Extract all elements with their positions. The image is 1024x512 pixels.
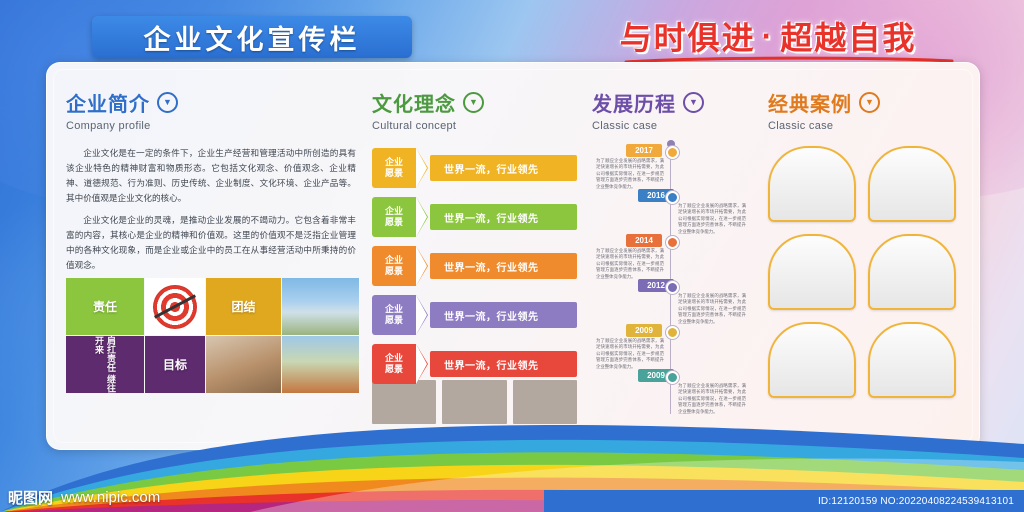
vision-arrow-tab: 企业愿景 [372, 295, 416, 335]
case-photo-frame-list [768, 146, 958, 408]
vision-arrow-tab: 企业愿景 [372, 148, 416, 188]
section-cultural-concept: 文化理念 ▼ Cultural concept 企业愿景世界一流，行业领先企业愿… [372, 88, 577, 393]
chevron-down-icon: ▼ [859, 92, 880, 113]
timeline-description: 为了顺应企业发展的战略需求，满足快速增长的市场开拓需要，为此公司根据实际情况，在… [596, 248, 664, 280]
cultural-concept-title-en: Cultural concept [372, 120, 577, 132]
culture-tile-grid: 责任 团结 肩扛责任 继往开来 目标 [66, 278, 356, 394]
company-profile-title-en: Company profile [66, 120, 356, 132]
cultural-concept-heading: 文化理念 ▼ [372, 88, 577, 117]
development-history-heading: 发展历程 ▼ [592, 88, 752, 117]
timeline: 2017为了顺应企业发展的战略需求，满足快速增长的市场开拓需要，为此公司根据实际… [592, 144, 752, 422]
section-development-history: 发展历程 ▼ Classic case 2017为了顺应企业发展的战略需求，满足… [592, 88, 752, 422]
footer-id-bar: ID:12120159 NO:20220408224539413101 [544, 490, 1024, 512]
classic-case-title-en: Classic case [768, 120, 958, 132]
tile-slogan-vertical-label: 肩扛责任 继往开来 [93, 336, 117, 393]
case-photo-frame [868, 234, 956, 310]
asset-id-text: ID:12120159 NO:20220408224539413101 [818, 496, 1014, 507]
timeline-year: 2009 [626, 324, 662, 337]
classic-case-title-cn: 经典案例 [768, 88, 852, 117]
site-logo: 昵图网 [8, 487, 53, 508]
cultural-concept-title-cn: 文化理念 [372, 88, 456, 117]
chevron-down-icon: ▼ [463, 92, 484, 113]
vision-arrow-tab: 企业愿景 [372, 344, 416, 384]
vision-arrow-row: 企业愿景世界一流，行业领先 [372, 295, 577, 335]
slogan-right: 超越自我 [780, 13, 916, 59]
photo-hands-together [206, 336, 281, 393]
vision-arrow-row: 企业愿景世界一流，行业领先 [372, 148, 577, 188]
chevron-down-icon: ▼ [157, 92, 178, 113]
company-profile-paragraph-2: 企业文化是企业的灵魂，是推动企业发展的不竭动力。它包含着非常丰富的内容，其核心是… [66, 213, 356, 273]
chevron-down-icon: ▼ [683, 92, 704, 113]
case-photo-frame [868, 146, 956, 222]
timeline-year: 2014 [626, 234, 662, 247]
timeline-dot [666, 326, 679, 339]
tile-goal: 目标 [145, 336, 205, 393]
vision-arrow-tab: 企业愿景 [372, 246, 416, 286]
tile-unity: 团结 [206, 278, 281, 335]
vision-arrow-list: 企业愿景世界一流，行业领先企业愿景世界一流，行业领先企业愿景世界一流，行业领先企… [372, 148, 577, 384]
tile-responsibility: 责任 [66, 278, 144, 335]
vision-arrow-text: 世界一流，行业领先 [430, 253, 577, 279]
site-url: www.nipic.com [61, 489, 160, 506]
vision-arrow-row: 企业愿景世界一流，行业领先 [372, 246, 577, 286]
timeline-description: 为了顺应企业发展的战略需求，满足快速增长的市场开拓需要，为此公司根据实际情况，在… [596, 158, 664, 190]
timeline-dot [666, 236, 679, 249]
case-photo-frame [768, 146, 856, 222]
company-profile-heading: 企业简介 ▼ [66, 88, 356, 117]
development-history-title-cn: 发展历程 [592, 88, 676, 117]
section-classic-case: 经典案例 ▼ Classic case [768, 88, 958, 408]
photo-running-track [282, 336, 359, 393]
company-profile-paragraph-1: 企业文化是在一定的条件下，企业生产经营和管理活动中所创造的具有该企业特色的精神财… [66, 146, 356, 206]
vision-arrow-row: 企业愿景世界一流，行业领先 [372, 344, 577, 384]
page-title: 企业文化宣传栏 [92, 16, 412, 58]
case-photo-frame [768, 234, 856, 310]
slogan: 与时俱进 · 超越自我 [578, 10, 958, 62]
footer-branding: 昵图网 www.nipic.com [0, 482, 160, 512]
timeline-description: 为了顺应企业发展的战略需求，满足快速增长的市场开拓需要，为此公司根据实际情况，在… [678, 293, 746, 325]
vision-arrow-text: 世界一流，行业领先 [430, 302, 577, 328]
poster-canvas: 企业文化宣传栏 与时俱进 · 超越自我 企业简介 ▼ Company profi… [0, 0, 1024, 512]
vision-arrow-text: 世界一流，行业领先 [430, 204, 577, 230]
timeline-description: 为了顺应企业发展的战略需求，满足快速增长的市场开拓需要，为此公司根据实际情况，在… [596, 338, 664, 370]
photo-city-building [282, 278, 359, 335]
timeline-dot [666, 146, 679, 159]
title-plaque: 企业文化宣传栏 [92, 16, 412, 58]
timeline-year: 2017 [626, 144, 662, 157]
case-photo-frame [868, 322, 956, 398]
classic-case-heading: 经典案例 ▼ [768, 88, 958, 117]
company-profile-title-cn: 企业简介 [66, 88, 150, 117]
timeline-description: 为了顺应企业发展的战略需求，满足快速增长的市场开拓需要，为此公司根据实际情况，在… [678, 203, 746, 235]
vision-arrow-text: 世界一流，行业领先 [430, 351, 577, 377]
slogan-dot: · [762, 18, 775, 55]
vision-arrow-tab: 企业愿景 [372, 197, 416, 237]
slogan-left: 与时俱进 [620, 13, 756, 59]
section-company-profile: 企业简介 ▼ Company profile 企业文化是在一定的条件下，企业生产… [66, 88, 356, 273]
development-history-title-en: Classic case [592, 120, 752, 132]
vision-arrow-text: 世界一流，行业领先 [430, 155, 577, 181]
vision-arrow-row: 企业愿景世界一流，行业领先 [372, 197, 577, 237]
tile-slogan-vertical: 肩扛责任 继往开来 [66, 336, 144, 393]
case-photo-frame [768, 322, 856, 398]
tile-target-icon [145, 278, 205, 335]
